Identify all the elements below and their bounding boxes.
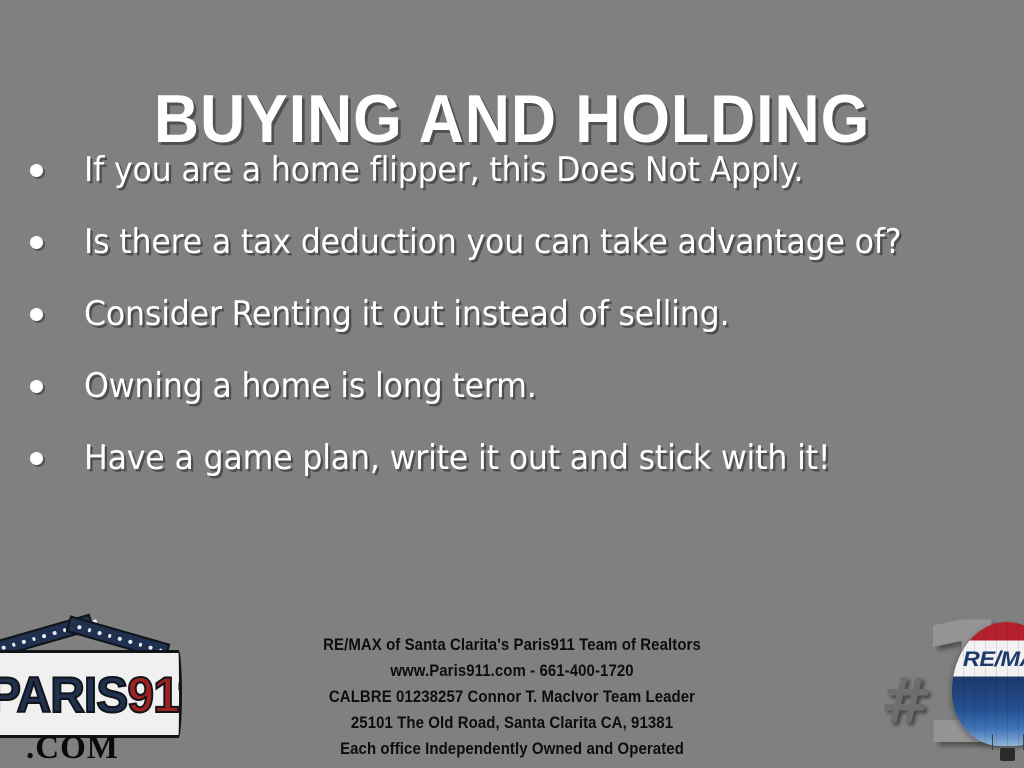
bullet-text: Have a game plan, write it out and stick… (84, 436, 940, 480)
logo-wordmark: PARIS911 (0, 667, 177, 723)
balloon-basket (1000, 748, 1015, 761)
presentation-slide: BUYING AND HOLDING If you are a home fli… (0, 0, 1024, 768)
logo-word-911: 911 (127, 667, 182, 723)
footer-line-license: CALBRE 01238257 Connor T. MacIvor Team L… (257, 684, 767, 710)
remax-balloon-icon: RE/MAX (952, 622, 1024, 746)
balloon-gores (952, 622, 1024, 746)
footer-line-contact: www.Paris911.com - 661-400-1720 (257, 658, 767, 684)
paris911-logo: PARIS911 .COM (0, 618, 197, 768)
list-item: Have a game plan, write it out and stick… (14, 436, 1004, 508)
bullet-list: If you are a home flipper, this Does Not… (14, 148, 1004, 508)
bullet-dot-icon (30, 164, 43, 177)
balloon-envelope: RE/MAX (952, 622, 1024, 746)
logo-word-paris: PARIS (0, 667, 127, 723)
slide-title: BUYING AND HOLDING (41, 82, 983, 156)
bullet-dot-icon (30, 380, 43, 393)
bullet-text: If you are a home flipper, this Does Not… (84, 148, 940, 192)
balloon-label: RE/MAX (952, 649, 1024, 670)
bullet-dot-icon (30, 452, 43, 465)
bullet-text: Consider Renting it out instead of selli… (84, 292, 940, 336)
logo-tld: .COM (26, 730, 119, 766)
remax-number-one-graphic: # 1 RE/MAX (866, 608, 1024, 768)
bullet-dot-icon (30, 308, 43, 321)
list-item: If you are a home flipper, this Does Not… (14, 148, 1004, 220)
bullet-text: Owning a home is long term. (84, 364, 940, 408)
list-item: Is there a tax deduction you can take ad… (14, 220, 1004, 292)
footer-line-disclaimer: Each office Independently Owned and Oper… (257, 736, 767, 762)
logo-plate: PARIS911 (0, 650, 182, 738)
bullet-dot-icon (30, 236, 43, 249)
list-item: Consider Renting it out instead of selli… (14, 292, 1004, 364)
footer-line-company: RE/MAX of Santa Clarita's Paris911 Team … (257, 632, 767, 658)
list-item: Owning a home is long term. (14, 364, 1004, 436)
footer-line-address: 25101 The Old Road, Santa Clarita CA, 91… (257, 710, 767, 736)
footer-contact-block: RE/MAX of Santa Clarita's Paris911 Team … (222, 632, 802, 762)
bullet-text: Is there a tax deduction you can take ad… (84, 220, 940, 264)
